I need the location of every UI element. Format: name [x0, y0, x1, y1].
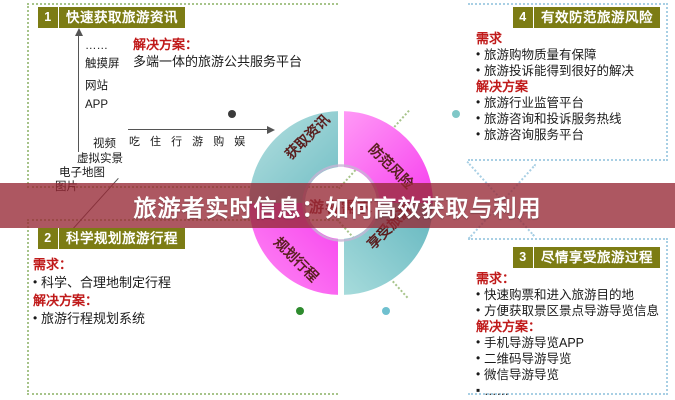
- list-item: ……: [476, 383, 660, 399]
- quadrant-2-body: 需求： 科学、合理地制定行程 解决方案： 旅游行程规划系统: [33, 256, 273, 328]
- quadrant-header-4: 4 有效防范旅游风险: [513, 7, 660, 28]
- need-label-4: 需求: [476, 31, 660, 47]
- vertical-axis-label-1: 触摸屏: [85, 55, 120, 71]
- list-item: 二维码导游导览: [476, 351, 660, 367]
- need-label-2: 需求：: [33, 256, 273, 274]
- quadrant-number-4: 4: [513, 7, 534, 28]
- multi-channel-axis-diagram: …… 触摸屏 网站 APP 视频 虚拟实景 电子地图 图片 吃 住 行 游 购 …: [33, 28, 333, 183]
- list-item: 手机导游导览APP: [476, 335, 660, 351]
- quadrant-number-3: 3: [513, 247, 534, 268]
- dot-top-right: [452, 110, 460, 118]
- solution-label-2: 解决方案：: [33, 292, 273, 310]
- solution-list-3: 手机导游导览APP 二维码导游导览 微信导游导览 ……: [476, 335, 660, 399]
- dot-top-left: [228, 110, 236, 118]
- quadrant-title-4: 有效防范旅游风险: [534, 7, 660, 28]
- horizontal-axis-label: 吃 住 行 游 购 娱: [129, 133, 249, 149]
- quadrant-header-2: 2 科学规划旅游行程: [38, 228, 185, 249]
- list-item: 旅游投诉能得到很好的解决: [476, 63, 660, 79]
- solution-label-3: 解决方案：: [476, 319, 660, 335]
- need-list-4: 旅游购物质量有保障 旅游投诉能得到很好的解决: [476, 47, 660, 79]
- list-item: 科学、合理地制定行程: [33, 274, 273, 292]
- dot-bottom-left: [296, 307, 304, 315]
- quadrant-1-solution-block: 解决方案： 多端一体的旅游公共服务平台: [133, 36, 348, 70]
- infographic-canvas: 1 快速获取旅游资讯 2 科学规划旅游行程 4 有效防范旅游风险 3 尽情享受旅…: [0, 0, 675, 400]
- vertical-axis-arrow: [78, 34, 79, 152]
- need-label-3: 需求：: [476, 271, 660, 287]
- quadrant-title-2: 科学规划旅游行程: [59, 228, 185, 249]
- quadrant-title-3: 尽情享受旅游过程: [534, 247, 660, 268]
- need-list-2: 科学、合理地制定行程: [33, 274, 273, 292]
- quadrant-number-2: 2: [38, 228, 59, 249]
- list-item: 旅游行业监管平台: [476, 95, 660, 111]
- solution-text-1: 多端一体的旅游公共服务平台: [133, 54, 302, 69]
- solution-label-4: 解决方案: [476, 79, 660, 95]
- horizontal-axis-arrow: [128, 129, 268, 130]
- list-item: 旅游咨询和投诉服务热线: [476, 111, 660, 127]
- vertical-axis-label-2: 网站: [85, 77, 108, 93]
- quadrant-number-1: 1: [38, 7, 59, 28]
- diagonal-axis-label-0: 视频: [93, 135, 116, 151]
- list-item: 快速购票和进入旅游目的地: [476, 287, 660, 303]
- title-banner: 旅游者实时信息：如何高效获取与利用: [0, 183, 675, 228]
- quadrant-header-3: 3 尽情享受旅游过程: [513, 247, 660, 268]
- quadrant-3-body: 需求： 快速购票和进入旅游目的地 方便获取景区景点导游导览信息 解决方案： 手机…: [476, 271, 660, 399]
- list-item: 方便获取景区景点导游导览信息: [476, 303, 660, 319]
- list-item: 旅游行程规划系统: [33, 310, 273, 328]
- quadrant-4-body: 需求 旅游购物质量有保障 旅游投诉能得到很好的解决 解决方案 旅游行业监管平台 …: [476, 31, 660, 143]
- list-item: 旅游咨询服务平台: [476, 127, 660, 143]
- solution-label-1: 解决方案：: [133, 36, 348, 53]
- quadrant-title-1: 快速获取旅游资讯: [59, 7, 185, 28]
- dot-bottom-right: [382, 307, 390, 315]
- banner-title: 旅游者实时信息：如何高效获取与利用: [134, 189, 542, 223]
- vertical-axis-label-3: APP: [85, 99, 108, 111]
- quadrant-header-1: 1 快速获取旅游资讯: [38, 7, 185, 28]
- need-list-3: 快速购票和进入旅游目的地 方便获取景区景点导游导览信息: [476, 287, 660, 319]
- list-item: 微信导游导览: [476, 367, 660, 383]
- list-item: 旅游购物质量有保障: [476, 47, 660, 63]
- solution-list-2: 旅游行程规划系统: [33, 310, 273, 328]
- solution-list-4: 旅游行业监管平台 旅游咨询和投诉服务热线 旅游咨询服务平台: [476, 95, 660, 143]
- vertical-axis-label-0: ……: [85, 40, 108, 52]
